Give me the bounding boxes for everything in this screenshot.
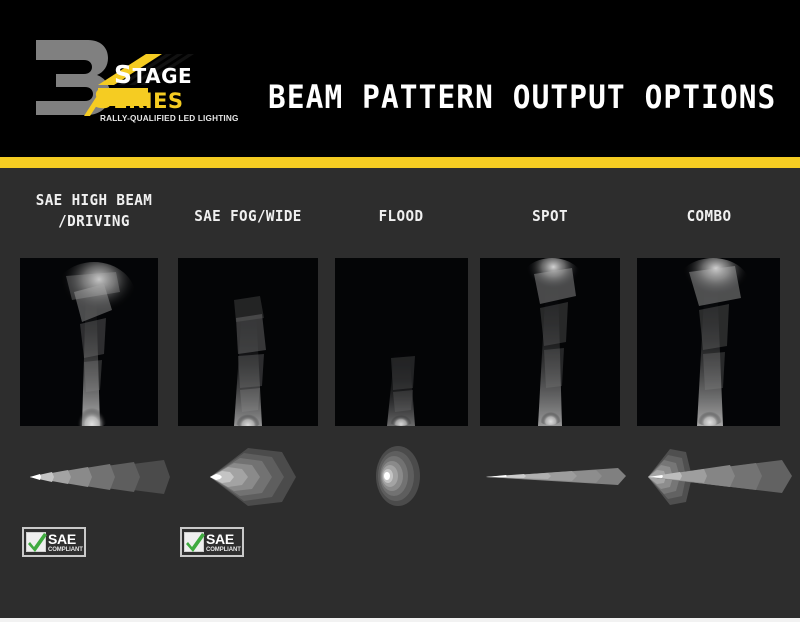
label-line: SAE FOG/WIDE [178, 206, 319, 227]
green-check-glyph [25, 530, 49, 554]
photo-render [20, 258, 158, 426]
stage-series-logo: STAGE SERIES RALLY-QUALIFIED LED LIGHTIN… [28, 30, 243, 125]
photo-render [637, 258, 780, 426]
bottom-strip [0, 618, 800, 622]
photo-render [335, 258, 468, 426]
beam-diagram-driving [14, 450, 170, 504]
column-label-sae-high-beam-driving: SAE HIGH BEAM /DRIVING [18, 190, 170, 232]
sae-compliant-badge-fog-wide: SAE COMPLIANT [180, 527, 244, 557]
sae-compliant-badge-driving: SAE COMPLIANT [22, 527, 86, 557]
badge-sub-label: COMPLIANT [48, 547, 83, 553]
badge-main-label: SAE [48, 532, 83, 546]
logo-word-series: SERIES [94, 85, 184, 115]
logo-artwork: STAGE SERIES RALLY-QUALIFIED LED LIGHTIN… [28, 30, 243, 125]
beam-photo-sae-fog-wide [178, 258, 318, 426]
logo-tagline: RALLY-QUALIFIED LED LIGHTING [100, 114, 239, 123]
spot-beam-shape [480, 460, 626, 492]
content-area: SAE HIGH BEAM /DRIVING SAE FOG/WIDE FLOO… [0, 168, 800, 618]
beam-photo-combo [637, 258, 780, 426]
combo-beam-shape [632, 446, 792, 508]
logo-word-stage: STAGE [114, 60, 192, 89]
flood-beam-shape [370, 444, 432, 508]
fog-wide-beam-shape [196, 446, 302, 508]
header-bar: STAGE SERIES RALLY-QUALIFIED LED LIGHTIN… [0, 0, 800, 157]
beam-photo-spot [480, 258, 620, 426]
checkmark-icon [26, 532, 46, 552]
beam-pattern-infographic: STAGE SERIES RALLY-QUALIFIED LED LIGHTIN… [0, 0, 800, 622]
label-line: SAE HIGH BEAM [18, 190, 170, 211]
beam-diagram-flood [370, 444, 432, 508]
checkmark-icon [184, 532, 204, 552]
label-line: COMBO [640, 206, 779, 227]
column-label-sae-fog-wide: SAE FOG/WIDE [178, 206, 319, 227]
badge-main-label: SAE [206, 532, 241, 546]
column-label-combo: COMBO [640, 206, 779, 227]
beam-photo-sae-high-beam-driving [20, 258, 158, 426]
page-title: BEAM PATTERN OUTPUT OPTIONS [268, 76, 746, 118]
badge-text: SAE COMPLIANT [206, 532, 241, 553]
beam-photo-flood [335, 258, 468, 426]
beam-diagram-combo [632, 446, 792, 508]
label-line: /DRIVING [18, 211, 170, 232]
column-label-flood: FLOOD [335, 206, 468, 227]
label-line: FLOOD [335, 206, 468, 227]
badge-sub-label: COMPLIANT [206, 547, 241, 553]
photo-render [178, 258, 318, 426]
yellow-accent-divider [0, 157, 800, 168]
beam-diagram-fog-wide [196, 446, 302, 508]
column-label-spot: SPOT [482, 206, 619, 227]
badge-text: SAE COMPLIANT [48, 532, 83, 553]
photo-render [480, 258, 620, 426]
green-check-glyph [183, 530, 207, 554]
beam-diagram-spot [480, 460, 626, 492]
label-line: SPOT [482, 206, 619, 227]
driving-beam-shape [14, 450, 170, 504]
